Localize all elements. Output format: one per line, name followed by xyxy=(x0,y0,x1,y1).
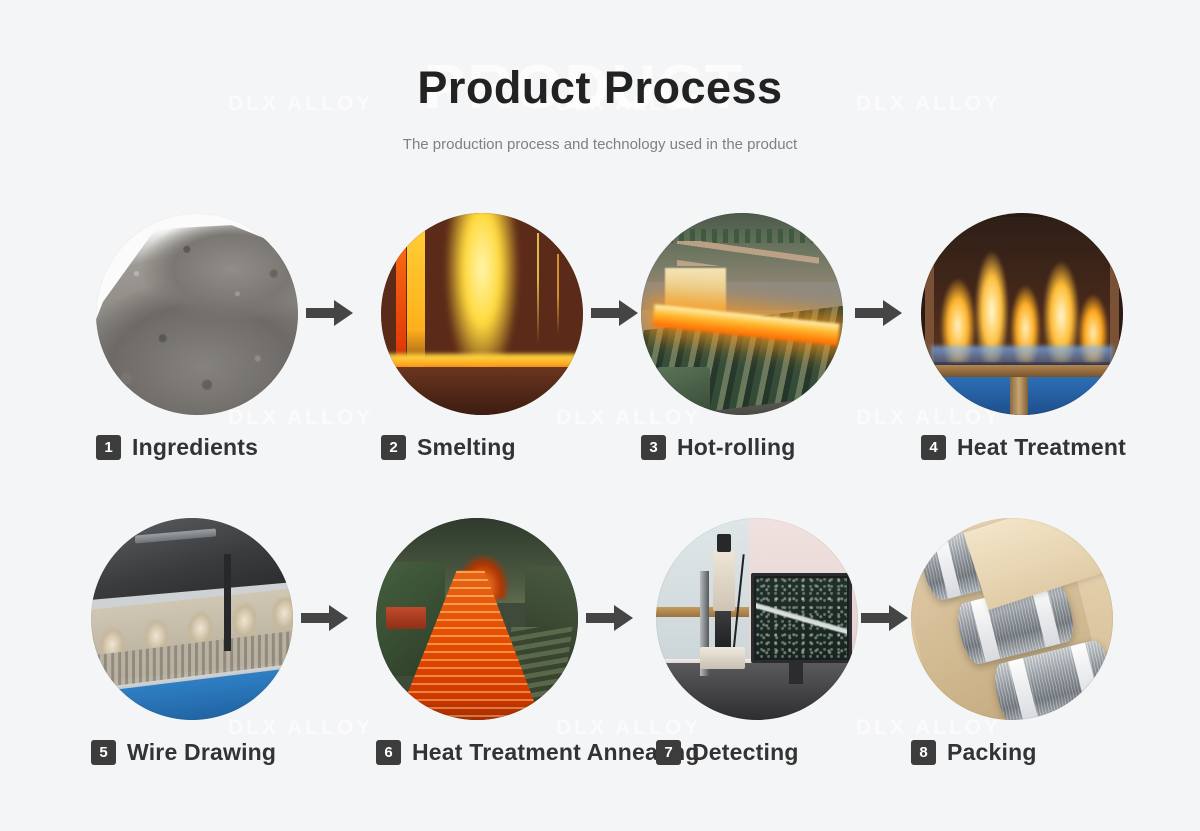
step-number-badge: 5 xyxy=(91,740,116,765)
arrow-right-icon xyxy=(861,603,909,633)
furnace-flames-photo xyxy=(921,213,1123,415)
process-step-3[interactable]: 3 Hot-rolling xyxy=(641,213,843,461)
process-step-4[interactable]: 4 Heat Treatment xyxy=(921,213,1123,461)
arrow-right-icon xyxy=(306,298,354,328)
step-title: Hot-rolling xyxy=(677,434,795,461)
step-number-badge: 1 xyxy=(96,435,121,460)
page-title: Product Process xyxy=(0,62,1200,114)
step-label-2: 2 Smelting xyxy=(381,434,583,461)
step-title: Smelting xyxy=(417,434,516,461)
step-label-8: 8 Packing xyxy=(911,739,1113,766)
page-header: Product Process The production process a… xyxy=(0,0,1200,153)
process-step-6[interactable]: 6 Heat Treatment Annealing xyxy=(376,518,578,766)
step-number-badge: 2 xyxy=(381,435,406,460)
process-step-2[interactable]: 2 Smelting xyxy=(381,213,583,461)
step-label-5: 5 Wire Drawing xyxy=(91,739,293,766)
step-title: Wire Drawing xyxy=(127,739,276,766)
step-title: Packing xyxy=(947,739,1037,766)
hot-rolling-mill-photo xyxy=(641,213,843,415)
step-number-badge: 6 xyxy=(376,740,401,765)
step-number-badge: 7 xyxy=(656,740,681,765)
step-number-badge: 4 xyxy=(921,435,946,460)
molten-metal-pour-photo xyxy=(381,213,583,415)
process-step-7[interactable]: 7 Detecting xyxy=(656,518,858,766)
step-label-1: 1 Ingredients xyxy=(96,434,298,461)
microscope-inspection-photo xyxy=(656,518,858,720)
step-number-badge: 8 xyxy=(911,740,936,765)
glowing-wire-coil-photo xyxy=(376,518,578,720)
wire-spools-in-carton-photo xyxy=(911,518,1113,720)
process-step-8[interactable]: 8 Packing xyxy=(911,518,1113,766)
arrow-right-icon xyxy=(855,298,903,328)
step-label-7: 7 Detecting xyxy=(656,739,858,766)
arrow-right-icon xyxy=(301,603,349,633)
page-subtitle: The production process and technology us… xyxy=(0,136,1200,153)
step-label-4: 4 Heat Treatment xyxy=(921,434,1123,461)
step-label-6: 6 Heat Treatment Annealing xyxy=(376,739,578,766)
step-number-badge: 3 xyxy=(641,435,666,460)
step-title: Heat Treatment xyxy=(957,434,1126,461)
process-step-1[interactable]: 1 Ingredients xyxy=(96,213,298,461)
step-label-3: 3 Hot-rolling xyxy=(641,434,843,461)
gray-metal-powder-photo xyxy=(96,213,298,415)
step-title: Detecting xyxy=(692,739,799,766)
step-title: Ingredients xyxy=(132,434,258,461)
arrow-right-icon xyxy=(586,603,634,633)
process-step-5[interactable]: 5 Wire Drawing xyxy=(91,518,293,766)
wire-drawing-machine-photo xyxy=(91,518,293,720)
arrow-right-icon xyxy=(591,298,639,328)
